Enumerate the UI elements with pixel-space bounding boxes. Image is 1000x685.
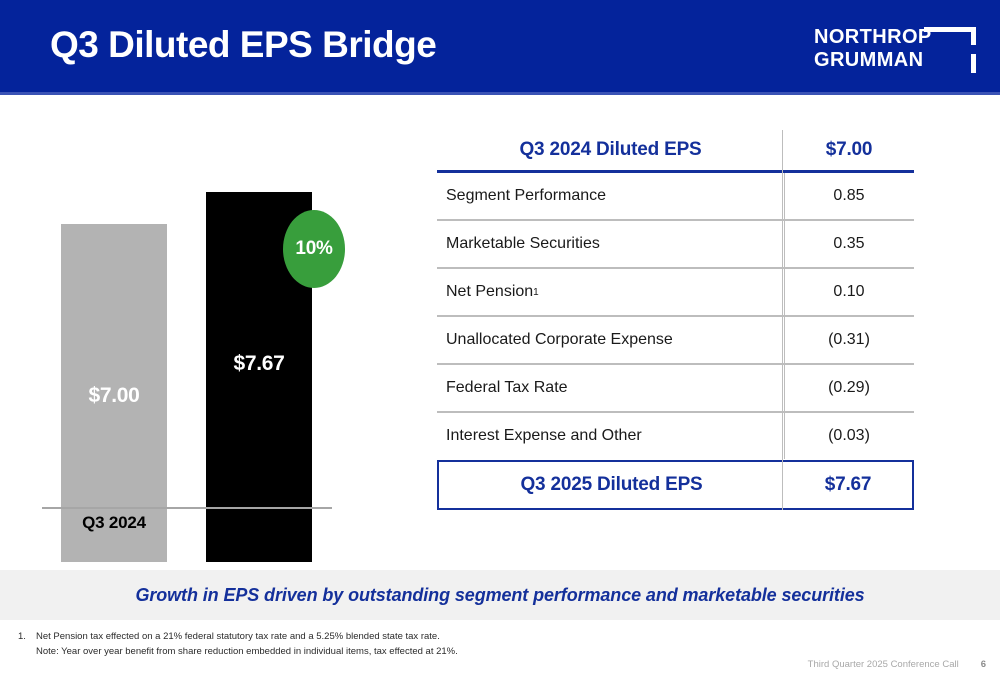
slide-footer: Third Quarter 2025 Conference Call 6 bbox=[808, 659, 986, 670]
logo-line-1: NORTHROP bbox=[814, 26, 932, 49]
table-header-value: $7.00 bbox=[784, 130, 914, 170]
table-row: Unallocated Corporate Expense (0.31) bbox=[437, 317, 914, 363]
column-divider bbox=[784, 365, 785, 411]
row-value: (0.03) bbox=[784, 413, 914, 459]
logo-text: NORTHROP GRUMMAN bbox=[814, 26, 932, 71]
growth-badge: 10% bbox=[283, 210, 345, 288]
total-value: $7.67 bbox=[784, 462, 912, 508]
table-row: Federal Tax Rate (0.29) bbox=[437, 365, 914, 411]
bar-value-q3-2025: $7.67 bbox=[233, 352, 284, 376]
axis-label-q3-2024: Q3 2024 bbox=[34, 513, 194, 533]
row-label: Unallocated Corporate Expense bbox=[437, 317, 784, 363]
table-total-row: Q3 2025 Diluted EPS $7.67 bbox=[437, 460, 914, 510]
deck-title: Third Quarter 2025 Conference Call bbox=[808, 659, 959, 670]
page-title: Q3 Diluted EPS Bridge bbox=[50, 23, 436, 67]
summary-banner: Growth in EPS driven by outstanding segm… bbox=[0, 570, 1000, 620]
row-label-text: Net Pension bbox=[446, 283, 533, 301]
axis-label-q3-2025: Q3 2025 bbox=[179, 513, 339, 533]
footnotes: 1.Net Pension tax effected on a 21% fede… bbox=[18, 629, 658, 659]
column-divider bbox=[784, 413, 785, 459]
row-value: (0.29) bbox=[784, 365, 914, 411]
bar-value-q3-2024: $7.00 bbox=[88, 384, 139, 408]
table-row: Segment Performance 0.85 bbox=[437, 173, 914, 219]
row-value: 0.10 bbox=[784, 269, 914, 315]
row-label: Marketable Securities bbox=[437, 221, 784, 267]
column-divider bbox=[784, 317, 785, 363]
table-header-row: Q3 2024 Diluted EPS $7.00 bbox=[437, 130, 914, 170]
logo-bracket-gap bbox=[970, 45, 976, 54]
eps-bridge-table: Q3 2024 Diluted EPS $7.00 Segment Perfor… bbox=[437, 130, 914, 510]
table-row: Marketable Securities 0.35 bbox=[437, 221, 914, 267]
table-row: Interest Expense and Other (0.03) bbox=[437, 413, 914, 459]
bar-q3-2024: $7.00 bbox=[61, 224, 167, 562]
eps-bar-chart: $7.00 $7.67 10% Q3 2024 Q3 2025 bbox=[0, 92, 420, 562]
page-number: 6 bbox=[981, 659, 986, 670]
table-header-label: Q3 2024 Diluted EPS bbox=[437, 130, 784, 170]
table-row: Net Pension1 0.10 bbox=[437, 269, 914, 315]
row-label: Federal Tax Rate bbox=[437, 365, 784, 411]
footnote-text: Net Pension tax effected on a 21% federa… bbox=[36, 631, 440, 642]
row-value: (0.31) bbox=[784, 317, 914, 363]
row-label: Segment Performance bbox=[437, 173, 784, 219]
column-divider bbox=[784, 173, 785, 219]
footnote-number: 1. bbox=[18, 629, 36, 644]
footnote-marker: 1 bbox=[533, 287, 539, 298]
footnote-item: 1.Net Pension tax effected on a 21% fede… bbox=[18, 629, 658, 644]
logo-line-2: GRUMMAN bbox=[814, 49, 932, 72]
row-value: 0.85 bbox=[784, 173, 914, 219]
column-divider bbox=[782, 130, 783, 510]
total-label: Q3 2025 Diluted EPS bbox=[439, 462, 784, 508]
column-divider bbox=[784, 221, 785, 267]
row-label: Interest Expense and Other bbox=[437, 413, 784, 459]
row-value: 0.35 bbox=[784, 221, 914, 267]
northrop-grumman-logo: NORTHROP GRUMMAN bbox=[798, 25, 978, 75]
chart-axis-line bbox=[42, 507, 332, 509]
logo-bracket-icon bbox=[924, 27, 976, 73]
footnote-note: Note: Year over year benefit from share … bbox=[18, 644, 658, 659]
summary-banner-text: Growth in EPS driven by outstanding segm… bbox=[135, 585, 864, 606]
row-label: Net Pension1 bbox=[437, 269, 784, 315]
column-divider bbox=[784, 269, 785, 315]
